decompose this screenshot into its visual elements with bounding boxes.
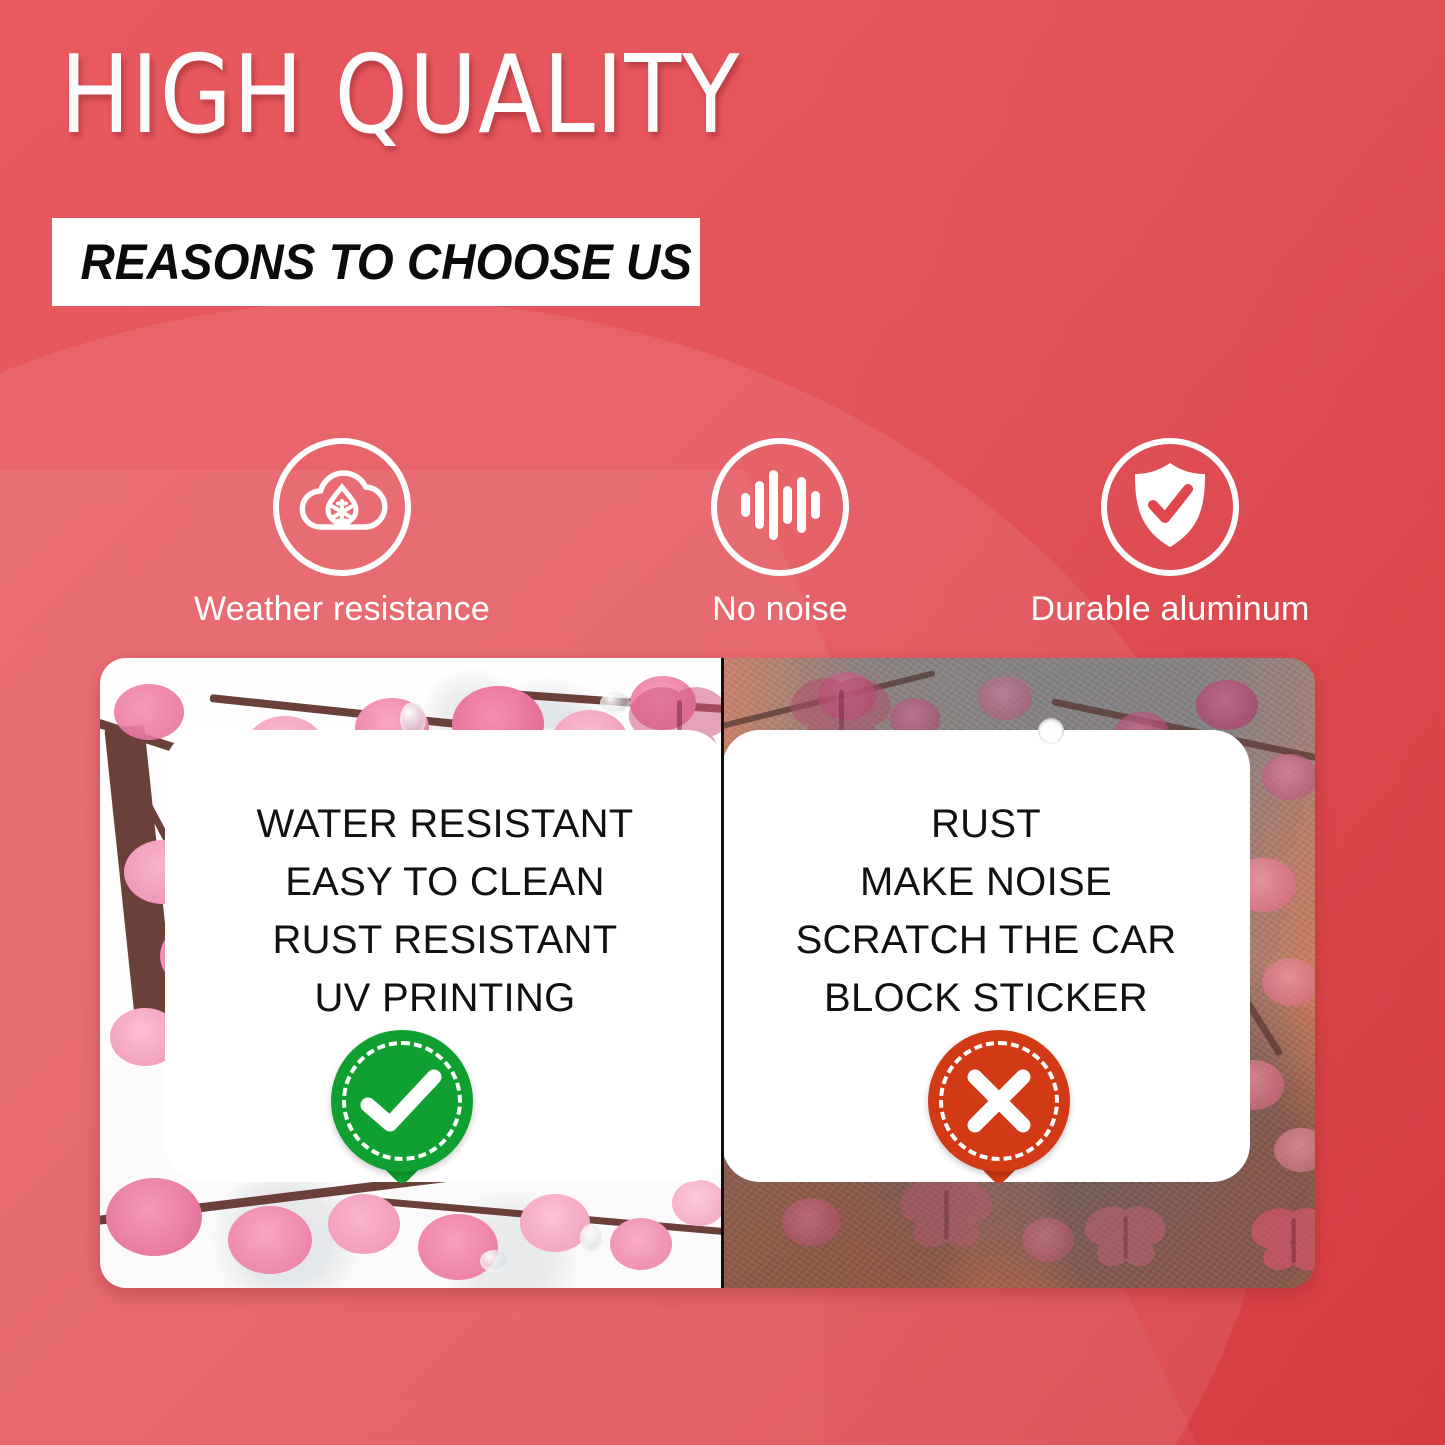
list-item: UV PRINTING <box>165 969 725 1027</box>
feature-label: Weather resistance <box>142 590 542 629</box>
feature-label: No noise <box>580 590 980 629</box>
feature-icon-ring <box>1101 438 1239 576</box>
right-drawback-list: RUST MAKE NOISE SCRATCH THE CAR BLOCK ST… <box>722 795 1250 1027</box>
cross-icon <box>962 1064 1036 1138</box>
list-item: BLOCK STICKER <box>722 969 1250 1027</box>
butterfly-icon <box>1244 1200 1315 1280</box>
butterfly-icon <box>1078 1198 1174 1276</box>
list-item: RUST <box>722 795 1250 853</box>
feature-durable-aluminum: Durable aluminum <box>970 438 1370 629</box>
feature-icon-ring <box>711 438 849 576</box>
shield-check-icon <box>1127 459 1213 556</box>
badge-pin-circle <box>331 1030 473 1172</box>
list-item: RUST RESISTANT <box>165 911 725 969</box>
cloud-droplet-snowflake-icon <box>294 463 390 552</box>
feature-label: Durable aluminum <box>970 590 1370 629</box>
feature-icon-ring <box>273 438 411 576</box>
feature-weather-resistance: Weather resistance <box>142 438 542 629</box>
butterfly-icon <box>892 1170 1002 1258</box>
feature-no-noise: No noise <box>580 438 980 629</box>
list-item: MAKE NOISE <box>722 853 1250 911</box>
subtitle-banner: REASONS TO CHOOSE US <box>52 218 700 306</box>
badge-pin-circle <box>928 1030 1070 1172</box>
left-benefit-list: WATER RESISTANT EASY TO CLEAN RUST RESIS… <box>165 795 725 1027</box>
list-item: SCRATCH THE CAR <box>722 911 1250 969</box>
list-item: WATER RESISTANT <box>165 795 725 853</box>
subtitle-text: REASONS TO CHOOSE US <box>52 233 692 291</box>
comparison-divider <box>721 658 724 1288</box>
bad-verdict-badge <box>928 1030 1070 1172</box>
sound-wave-icon <box>735 464 825 551</box>
list-item: EASY TO CLEAN <box>165 853 725 911</box>
page-title: HIGH QUALITY <box>60 42 740 150</box>
feature-row: Weather resistance <box>0 438 1445 648</box>
checkmark-icon <box>358 1065 446 1137</box>
product-infographic: HIGH QUALITY REASONS TO CHOOSE US <box>0 0 1445 1445</box>
good-verdict-badge <box>331 1030 473 1172</box>
mounting-hole <box>1038 718 1064 744</box>
